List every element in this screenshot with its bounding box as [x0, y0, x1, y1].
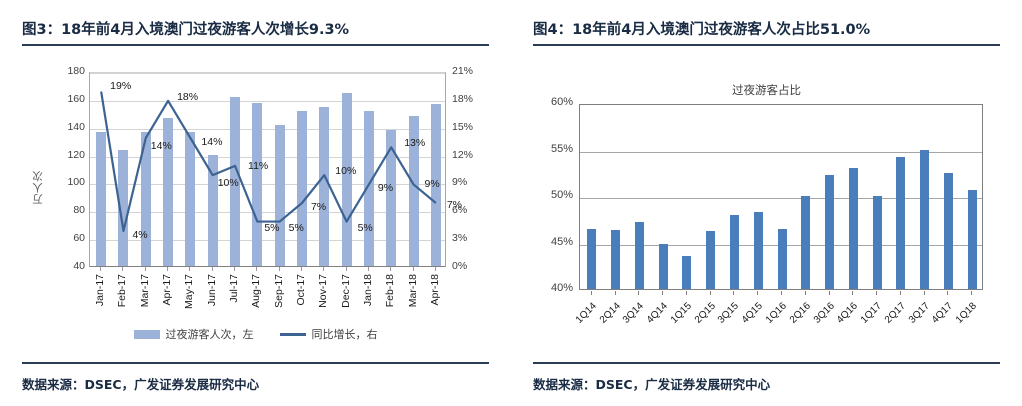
chart-4-bar: [682, 256, 691, 289]
chart-3-data-label: 5%: [358, 222, 373, 234]
chart-3-data-label: 9%: [425, 178, 440, 190]
chart-3-x-tick: [256, 267, 257, 271]
chart-3-x-tick-label: Jan-18: [362, 274, 374, 306]
chart-4-bar: [849, 168, 858, 289]
chart-3-x-tick-label: Jun-17: [206, 274, 218, 306]
legend-bar-label: 过夜游客人次，左: [166, 326, 254, 342]
chart-3-data-label: 7%: [311, 201, 326, 213]
chart-4-y-tick-label: 45%: [527, 237, 573, 248]
chart-3-area: 万人次 4060801001201401601800%3%6%9%12%15%1…: [0, 52, 511, 352]
chart-4-y-tick-label: 50%: [527, 190, 573, 201]
chart-4-y-tick-label: 55%: [527, 144, 573, 155]
chart-3-x-tick-label: Dec-17: [340, 274, 352, 308]
chart-3-y2-tick-label: 21%: [452, 66, 486, 77]
chart-3-x-tick: [167, 267, 168, 271]
chart-4-x-tick: [947, 291, 948, 295]
chart-3-legend: 过夜游客人次，左 同比增长，右: [0, 326, 511, 342]
right-footer-divider: [533, 362, 1000, 364]
chart-3-y-tick-label: 120: [47, 150, 85, 161]
chart-3-y-tick-label: 160: [47, 94, 85, 105]
chart-4-x-tick: [805, 291, 806, 295]
chart-3-data-label: 13%: [404, 137, 425, 149]
chart-3-x-tick-label: May-17: [183, 274, 195, 309]
chart-4-x-tick: [852, 291, 853, 295]
chart-3-data-label: 9%: [378, 182, 393, 194]
chart-4-bar: [944, 173, 953, 289]
left-source-note: 数据来源：DSEC，广发证券发展研究中心: [22, 374, 259, 393]
chart-4-x-tick: [591, 291, 592, 295]
chart-3-data-label: 19%: [110, 80, 131, 92]
chart-3-data-label: 18%: [177, 91, 198, 103]
chart-3-x-tick: [390, 267, 391, 271]
chart-4-x-tick: [638, 291, 639, 295]
chart-4-bar: [659, 244, 668, 289]
chart-3-data-label: 5%: [264, 222, 279, 234]
chart-3-x-tick: [122, 267, 123, 271]
chart-3-x-tick-label: Mar-18: [407, 274, 419, 307]
chart-3-x-tick-label: Feb-18: [384, 274, 396, 307]
chart-3-y-tick-label: 80: [47, 205, 85, 216]
chart-3-x-tick-label: Nov-17: [317, 274, 329, 308]
legend-item-bars: 过夜游客人次，左: [134, 326, 254, 342]
chart-4-x-tick: [924, 291, 925, 295]
chart-3-x-tick-label: Feb-17: [116, 274, 128, 307]
chart-3-y2-tick-label: 9%: [452, 177, 486, 188]
chart-4-x-tick: [971, 291, 972, 295]
chart-3-x-tick: [323, 267, 324, 271]
chart-3-data-label: 5%: [289, 222, 304, 234]
chart-4-x-tick: [876, 291, 877, 295]
chart-3-data-label: 7%: [447, 199, 462, 211]
left-figure-title: 图3：18年前4月入境澳门过夜游客人次增长9.3%: [22, 18, 349, 39]
chart-3-x-tick-label: Sep-17: [273, 274, 285, 308]
chart-4-bar: [968, 190, 977, 290]
chart-3-x-tick: [435, 267, 436, 271]
chart-3-x-tick: [234, 267, 235, 271]
chart-3-y2-tick-label: 18%: [452, 94, 486, 105]
chart-3-data-label: 14%: [201, 136, 222, 148]
chart-4-x-tick: [733, 291, 734, 295]
chart-4-x-tick: [615, 291, 616, 295]
chart-3-y-tick-label: 40: [47, 261, 85, 272]
chart-4-title: 过夜游客占比: [511, 82, 1022, 98]
left-title-divider: [22, 44, 489, 46]
chart-3-y-tick-label: 60: [47, 233, 85, 244]
chart-3-y2-tick-label: 0%: [452, 261, 486, 272]
chart-4-bar: [706, 231, 715, 289]
chart-4-bar: [587, 229, 596, 289]
chart-3-x-tick-label: Oct-17: [295, 274, 307, 306]
chart-4-bar: [754, 212, 763, 289]
chart-3-y2-tick-label: 15%: [452, 122, 486, 133]
chart-4-y-tick-label: 40%: [527, 283, 573, 294]
chart-4-bar: [635, 222, 644, 289]
chart-3-y-tick-label: 140: [47, 122, 85, 133]
right-source-note: 数据来源：DSEC，广发证券发展研究中心: [533, 374, 770, 393]
right-title-divider: [533, 44, 1000, 46]
chart-3-x-tick-label: Jan-17: [94, 274, 106, 306]
chart-4-x-tick: [662, 291, 663, 295]
chart-3-x-tick: [346, 267, 347, 271]
chart-3-y-axis-label: 万人次: [30, 170, 45, 205]
chart-3-y2-tick-label: 3%: [452, 233, 486, 244]
chart-4-bar: [778, 229, 787, 289]
legend-bar-swatch-icon: [134, 330, 160, 339]
chart-3-x-tick-label: Aug-17: [250, 274, 262, 308]
chart-4-bar: [730, 215, 739, 289]
chart-4-bar: [920, 150, 929, 290]
right-figure-title: 图4：18年前4月入境澳门过夜游客人次占比51.0%: [533, 18, 870, 39]
chart-3-x-tick: [212, 267, 213, 271]
chart-4-x-tick: [710, 291, 711, 295]
chart-3-y-tick-label: 180: [47, 66, 85, 77]
chart-4-bar: [896, 157, 905, 289]
legend-line-swatch-icon: [280, 333, 306, 336]
chart-3-y2-tick-label: 12%: [452, 150, 486, 161]
chart-4-x-tick: [781, 291, 782, 295]
chart-4-bar: [801, 196, 810, 289]
chart-3-x-tick-label: Mar-17: [139, 274, 151, 307]
chart-3-x-tick: [279, 267, 280, 271]
chart-3-data-label: 10%: [335, 165, 356, 177]
chart-3-x-tick-label: Apr-17: [161, 274, 173, 306]
chart-3-x-tick: [145, 267, 146, 271]
chart-4-bar: [611, 230, 620, 289]
chart-4-x-tick: [757, 291, 758, 295]
chart-3-x-tick: [189, 267, 190, 271]
chart-3-data-label: 4%: [132, 229, 147, 241]
chart-4-area: 过夜游客占比 40%45%50%55%60%1Q142Q143Q144Q141Q…: [511, 52, 1022, 352]
chart-3-data-label: 11%: [248, 160, 268, 172]
chart-3-y-tick-label: 100: [47, 177, 85, 188]
chart-4-x-tick: [900, 291, 901, 295]
chart-3-x-tick: [301, 267, 302, 271]
chart-3-x-tick: [100, 267, 101, 271]
chart-4-x-tick: [686, 291, 687, 295]
chart-3-x-tick: [413, 267, 414, 271]
left-footer-divider: [22, 362, 489, 364]
legend-line-label: 同比增长，右: [312, 326, 378, 342]
left-figure-panel: 图3：18年前4月入境澳门过夜游客人次增长9.3% 万人次 4060801001…: [0, 0, 511, 406]
chart-3-x-tick-label: Apr-18: [429, 274, 441, 306]
chart-4-bar: [873, 196, 882, 289]
chart-4-plot: [579, 104, 983, 290]
chart-4-y-tick-label: 60%: [527, 97, 573, 108]
chart-3-x-tick: [368, 267, 369, 271]
right-figure-panel: 图4：18年前4月入境澳门过夜游客人次占比51.0% 过夜游客占比 40%45%…: [511, 0, 1022, 406]
figures-page: 图3：18年前4月入境澳门过夜游客人次增长9.3% 万人次 4060801001…: [0, 0, 1022, 406]
chart-4-x-tick: [829, 291, 830, 295]
chart-4-bar: [825, 175, 834, 289]
legend-item-line: 同比增长，右: [280, 326, 378, 342]
chart-3-data-label: 14%: [151, 140, 172, 152]
chart-3-data-label: 10%: [218, 177, 239, 189]
chart-3-x-tick-label: Jul-17: [228, 274, 240, 303]
